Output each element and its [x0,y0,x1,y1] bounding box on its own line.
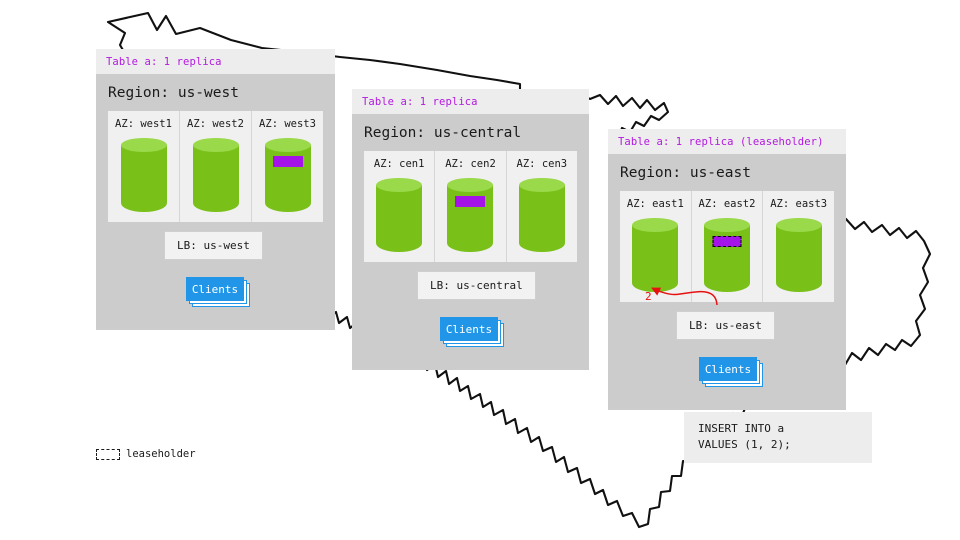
cylinder-body [193,145,239,212]
node-cen3[interactable] [507,178,577,252]
az-label-cen2: AZ: cen2 [435,158,505,170]
az-cell-cen1[interactable]: AZ: cen1 [364,151,435,262]
az-cell-east3[interactable]: AZ: east3 [763,191,834,302]
clients-button-us-west[interactable]: Clients [186,277,244,301]
database-cylinder-icon [704,218,750,292]
node-west1[interactable] [108,138,179,212]
az-label-west3: AZ: west3 [252,118,323,130]
clients-button-us-central[interactable]: Clients [440,317,498,341]
cylinder-top [376,178,422,192]
node-west2[interactable] [180,138,251,212]
az-label-west2: AZ: west2 [180,118,251,130]
az-label-east1: AZ: east1 [620,198,691,210]
region-panel-us-central: Table a: 1 replica Region: us-central AZ… [352,89,589,370]
az-label-west1: AZ: west1 [108,118,179,130]
cylinder-top [193,138,239,152]
cylinder-body [519,185,565,252]
az-row-us-west: AZ: west1 AZ: west2 AZ: west3 [108,111,323,222]
database-cylinder-icon [519,178,565,252]
leaseholder-replica-marker-east2 [713,236,742,247]
clients-stack-us-east[interactable]: Clients [699,357,757,381]
az-cell-west3[interactable]: AZ: west3 [252,111,323,222]
arrow-step-label: 2 [645,290,652,303]
replica-marker-west3 [273,156,303,167]
region-panel-us-west: Table a: 1 replica Region: us-west AZ: w… [96,49,335,330]
az-label-cen3: AZ: cen3 [507,158,577,170]
cylinder-top [519,178,565,192]
region-panel-us-east: Table a: 1 replica (leaseholder) Region:… [608,129,846,410]
region-title-us-east: Region: us-east [608,154,846,191]
node-east2[interactable] [692,218,763,292]
database-cylinder-icon [121,138,167,212]
cylinder-top [776,218,822,232]
database-cylinder-icon [447,178,493,252]
database-cylinder-icon [632,218,678,292]
az-label-cen1: AZ: cen1 [364,158,434,170]
node-east3[interactable] [763,218,834,292]
cylinder-body [376,185,422,252]
sql-statement-box: INSERT INTO a VALUES (1, 2); [684,412,872,463]
node-cen1[interactable] [364,178,434,252]
az-row-us-central: AZ: cen1 AZ: cen2 AZ: cen3 [364,151,577,262]
load-balancer-us-west[interactable]: LB: us-west [164,231,263,260]
clients-stack-us-west[interactable]: Clients [186,277,244,301]
az-cell-west1[interactable]: AZ: west1 [108,111,180,222]
cylinder-body [776,225,822,292]
load-balancer-us-central[interactable]: LB: us-central [417,271,536,300]
az-cell-west2[interactable]: AZ: west2 [180,111,252,222]
region-title-us-west: Region: us-west [96,74,335,111]
az-cell-cen3[interactable]: AZ: cen3 [507,151,577,262]
database-cylinder-icon [776,218,822,292]
database-cylinder-icon [376,178,422,252]
clients-stack-us-central[interactable]: Clients [440,317,498,341]
cylinder-top [265,138,311,152]
legend-label: leaseholder [126,448,196,460]
database-cylinder-icon [193,138,239,212]
az-cell-cen2[interactable]: AZ: cen2 [435,151,506,262]
clients-button-us-east[interactable]: Clients [699,357,757,381]
table-banner-us-east: Table a: 1 replica (leaseholder) [608,129,846,154]
load-balancer-us-east[interactable]: LB: us-east [676,311,775,340]
az-cell-east2[interactable]: AZ: east2 [692,191,764,302]
az-row-us-east: AZ: east1 AZ: east2 AZ: east3 [620,191,834,302]
node-west3[interactable] [252,138,323,212]
dashed-rect-icon [96,449,120,460]
az-cell-east1[interactable]: AZ: east1 [620,191,692,302]
replica-marker-cen2 [455,196,485,207]
cylinder-top [632,218,678,232]
cylinder-body [632,225,678,292]
legend: leaseholder [96,448,196,460]
az-label-east2: AZ: east2 [692,198,763,210]
database-cylinder-icon [265,138,311,212]
az-label-east3: AZ: east3 [763,198,834,210]
cylinder-body [121,145,167,212]
cylinder-top [704,218,750,232]
region-title-us-central: Region: us-central [352,114,589,151]
node-cen2[interactable] [435,178,505,252]
node-east1[interactable] [620,218,691,292]
table-banner-us-central: Table a: 1 replica [352,89,589,114]
table-banner-us-west: Table a: 1 replica [96,49,335,74]
cylinder-top [121,138,167,152]
